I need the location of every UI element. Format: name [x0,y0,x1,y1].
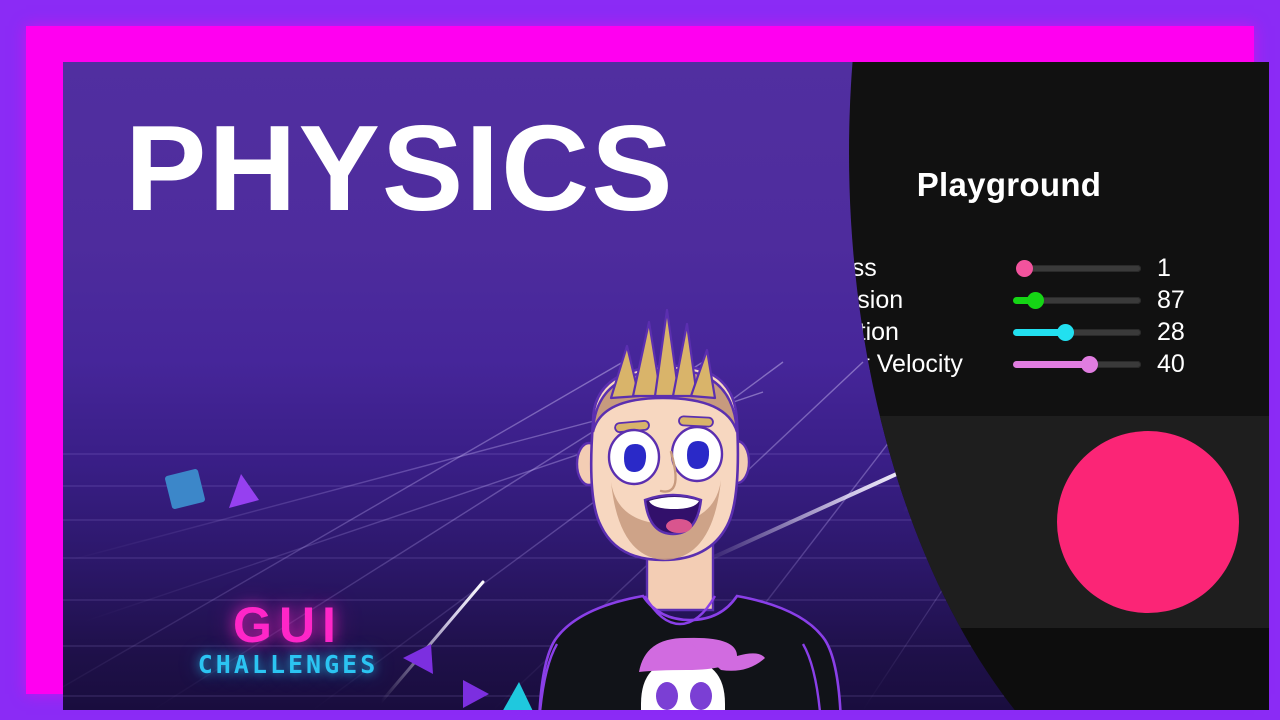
demo-stage[interactable] [749,416,1269,628]
slider-value-tension: 87 [1157,286,1227,315]
logo-primary-text: GUI [173,600,403,650]
slider-label-mass: Mass [817,254,1013,283]
slider-label-friction: Friction [817,318,1013,347]
slider-control-friction[interactable] [1013,316,1143,348]
slider-row-friction[interactable]: Friction 28 [817,316,1227,348]
slider-list: Mass 1 Tension [817,252,1227,380]
slider-control-start-velocity[interactable] [1013,348,1143,380]
slider-control-tension[interactable] [1013,284,1143,316]
slider-thumb-friction[interactable] [1057,324,1074,341]
slider-value-friction: 28 [1157,318,1227,347]
neon-frame: PHYSICS GUI CHALLENGES [26,26,1254,694]
slider-label-start-velocity: Start Velocity [817,350,1013,379]
slider-thumb-tension[interactable] [1027,292,1044,309]
controls-panel: Playground Mass 1 [749,62,1269,710]
logo-secondary-text: CHALLENGES [173,652,403,677]
slider-row-tension[interactable]: Tension 87 [817,284,1227,316]
playground-panel: Playground Mass 1 [749,62,1269,710]
decor-triangle [229,474,259,508]
slider-value-start-velocity: 40 [1157,350,1227,379]
slider-value-mass: 1 [1157,254,1227,283]
slider-label-tension: Tension [817,286,1013,315]
slider-row-start-velocity[interactable]: Start Velocity 40 [817,348,1227,380]
slider-thumb-start-velocity[interactable] [1081,356,1098,373]
draggable-ball[interactable] [1057,431,1239,613]
decor-square [164,468,205,509]
pointer-cursor [796,492,810,510]
video-thumbnail: PHYSICS GUI CHALLENGES [0,0,1280,720]
panel-title: Playground [749,166,1269,204]
gui-challenges-logo: GUI CHALLENGES [173,600,403,677]
slider-row-mass[interactable]: Mass 1 [817,252,1227,284]
panel-footer-strip [749,628,1269,710]
slider-fill-start-velocity [1013,361,1091,368]
slider-control-mass[interactable] [1013,252,1143,284]
content-area: PHYSICS GUI CHALLENGES [63,62,1269,710]
slider-track-mass[interactable] [1021,265,1141,272]
page-title: PHYSICS [125,104,675,232]
slider-thumb-mass[interactable] [1016,260,1033,277]
decor-triangle [463,680,489,708]
